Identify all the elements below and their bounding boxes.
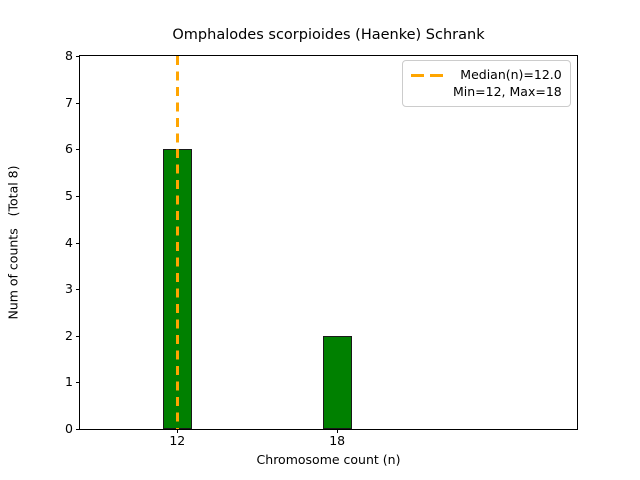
legend-label: Median(n)=12.0 Min=12, Max=18: [453, 67, 562, 100]
y-tick-label: 4: [65, 236, 73, 249]
y-tick-label: 2: [65, 330, 73, 343]
legend-label-line-2: Min=12, Max=18: [453, 84, 562, 101]
y-tick-label: 6: [65, 143, 73, 156]
y-tick-label: 7: [65, 96, 73, 109]
figure-canvas: Omphalodes scorpioides (Haenke) Schrank …: [0, 0, 640, 480]
chart-title: Omphalodes scorpioides (Haenke) Schrank: [79, 27, 578, 43]
x-axis-label: Chromosome count (n): [79, 452, 578, 467]
y-tick-mark: [76, 149, 80, 150]
x-tick-label: 18: [329, 435, 345, 448]
y-tick-mark: [76, 196, 80, 197]
y-tick-mark: [76, 289, 80, 290]
y-axis-label-text: Num of counts (Total 8): [6, 165, 21, 319]
y-tick-mark: [76, 336, 80, 337]
bar-18: [323, 336, 352, 429]
y-tick-label: 8: [65, 50, 73, 63]
y-tick-mark: [76, 429, 80, 430]
legend: Median(n)=12.0 Min=12, Max=18: [402, 60, 571, 107]
y-tick-mark: [76, 103, 80, 104]
x-tick-label: 12: [169, 435, 185, 448]
median-line: [176, 56, 179, 429]
y-tick-label: 5: [65, 190, 73, 203]
y-tick-label: 3: [65, 283, 73, 296]
y-tick-mark: [76, 382, 80, 383]
y-tick-mark: [76, 56, 80, 57]
legend-entry: Median(n)=12.0 Min=12, Max=18: [411, 67, 562, 100]
y-tick-mark: [76, 243, 80, 244]
plot-inner: [80, 56, 577, 429]
legend-label-line-1: Median(n)=12.0: [453, 67, 562, 84]
y-tick-label: 1: [65, 376, 73, 389]
legend-dashed-line-icon: [411, 67, 445, 83]
y-tick-label: 0: [65, 423, 73, 436]
plot-area: 0123456781218: [79, 55, 578, 430]
y-axis-label: Num of counts (Total 8): [0, 55, 26, 430]
